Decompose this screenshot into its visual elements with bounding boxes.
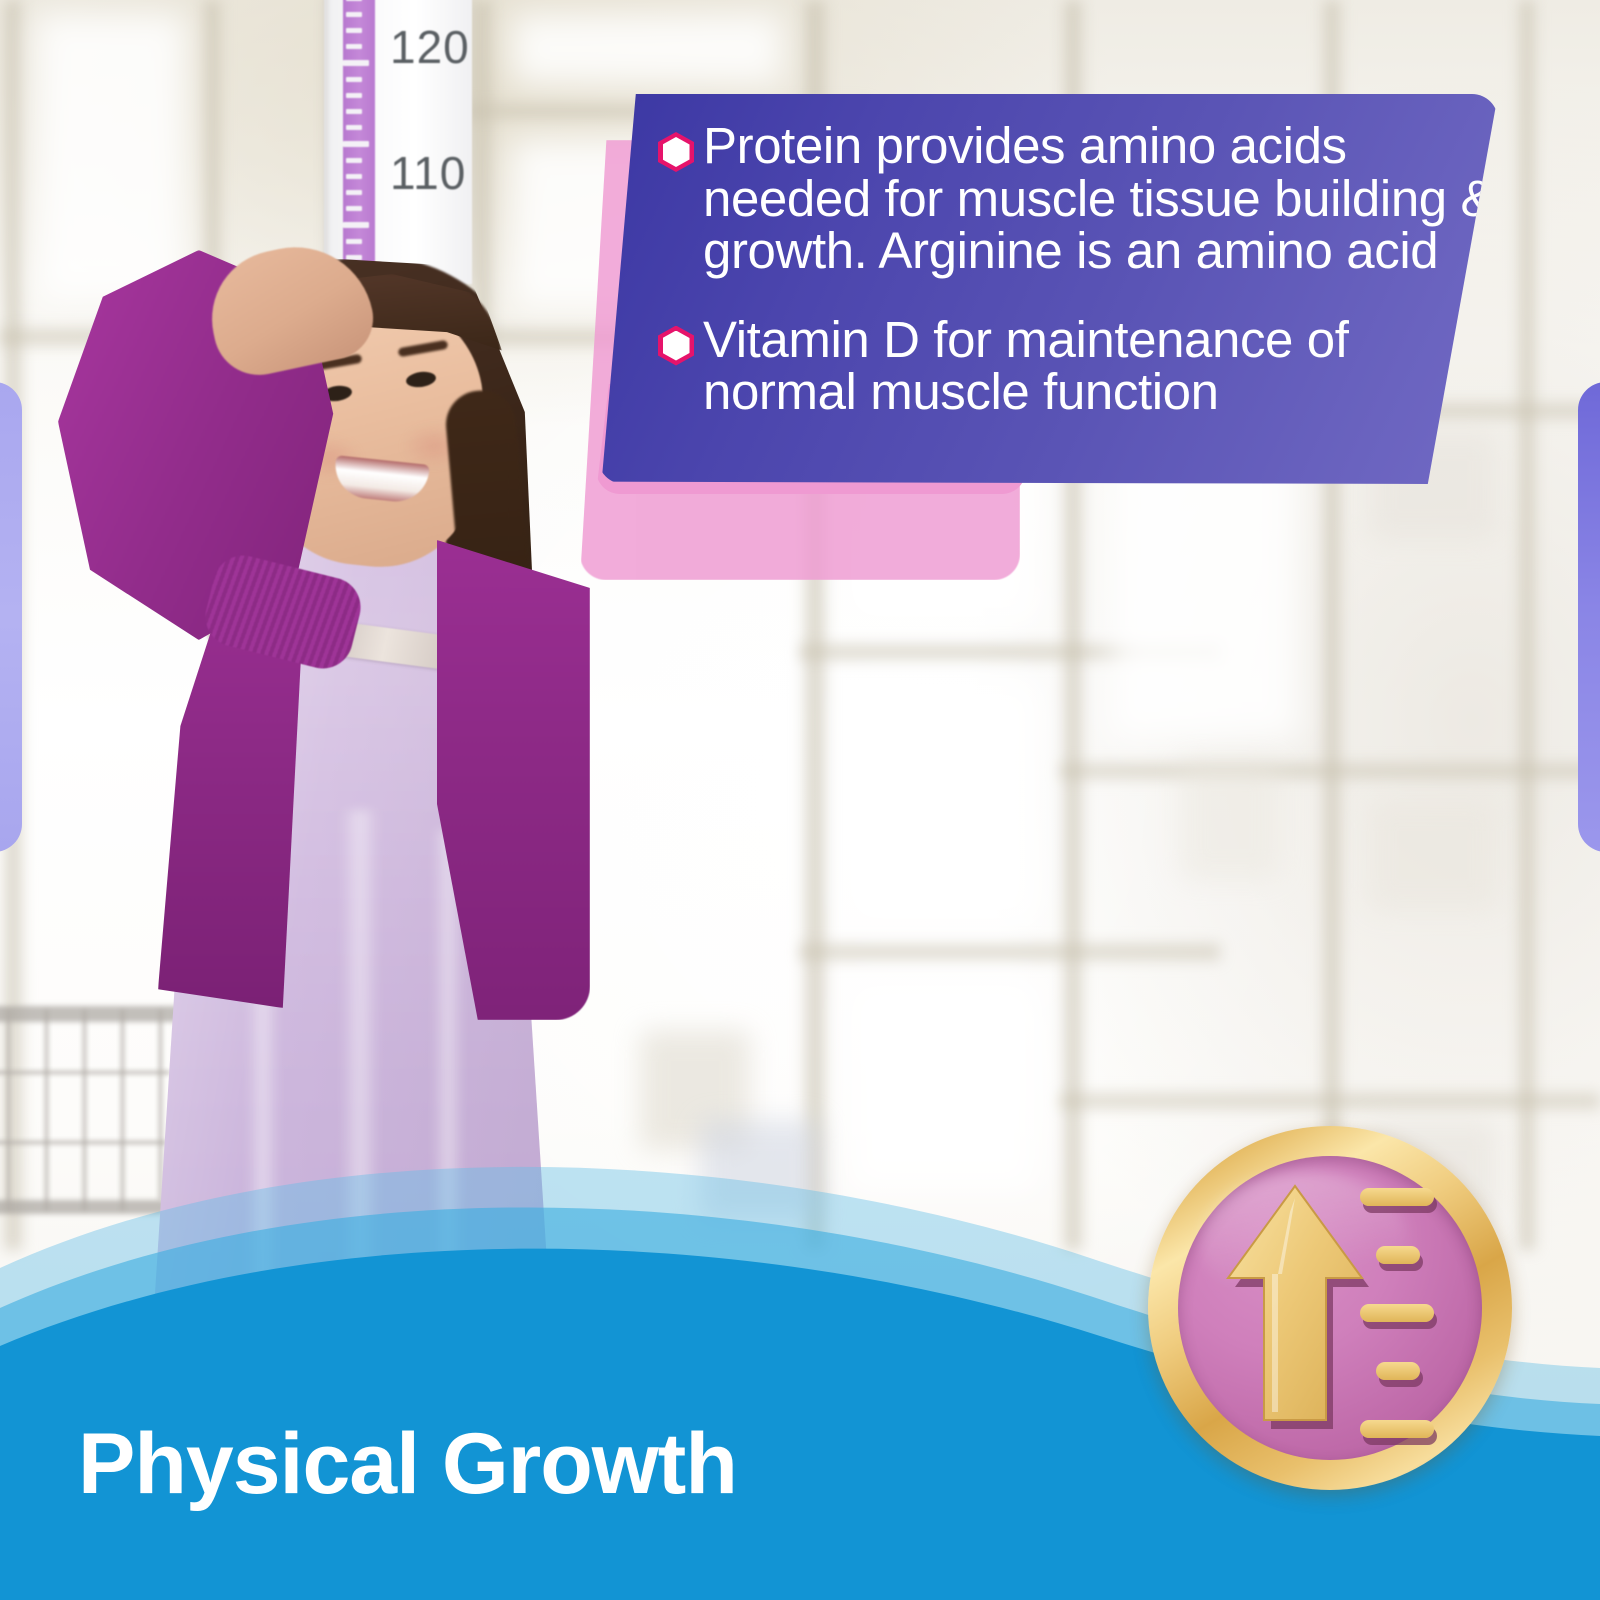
callout-panel: Protein provides amino acids needed for … — [598, 94, 1498, 484]
physical-growth-badge — [1148, 1126, 1512, 1490]
benefit-text-vitamin-d: Vitamin D for maintenance of normal musc… — [703, 314, 1493, 419]
side-tab-left — [0, 382, 22, 852]
list-item: Vitamin D for maintenance of normal musc… — [658, 314, 1508, 419]
benefits-callout: Protein provides amino acids needed for … — [576, 94, 1600, 524]
benefit-text-protein: Protein provides amino acids needed for … — [703, 120, 1508, 278]
list-item: Protein provides amino acids needed for … — [658, 120, 1508, 278]
ruler-label-120: 120 — [390, 20, 470, 74]
infographic-canvas: 120 110 — [0, 0, 1600, 1600]
hexagon-bullet-icon — [658, 326, 694, 366]
benefits-list: Protein provides amino acids needed for … — [658, 120, 1508, 435]
page-title: Physical Growth — [78, 1415, 737, 1514]
ruler-label-110: 110 — [390, 146, 466, 200]
hexagon-bullet-icon — [658, 132, 694, 172]
upward-growth-arrow-icon — [1220, 1182, 1370, 1432]
